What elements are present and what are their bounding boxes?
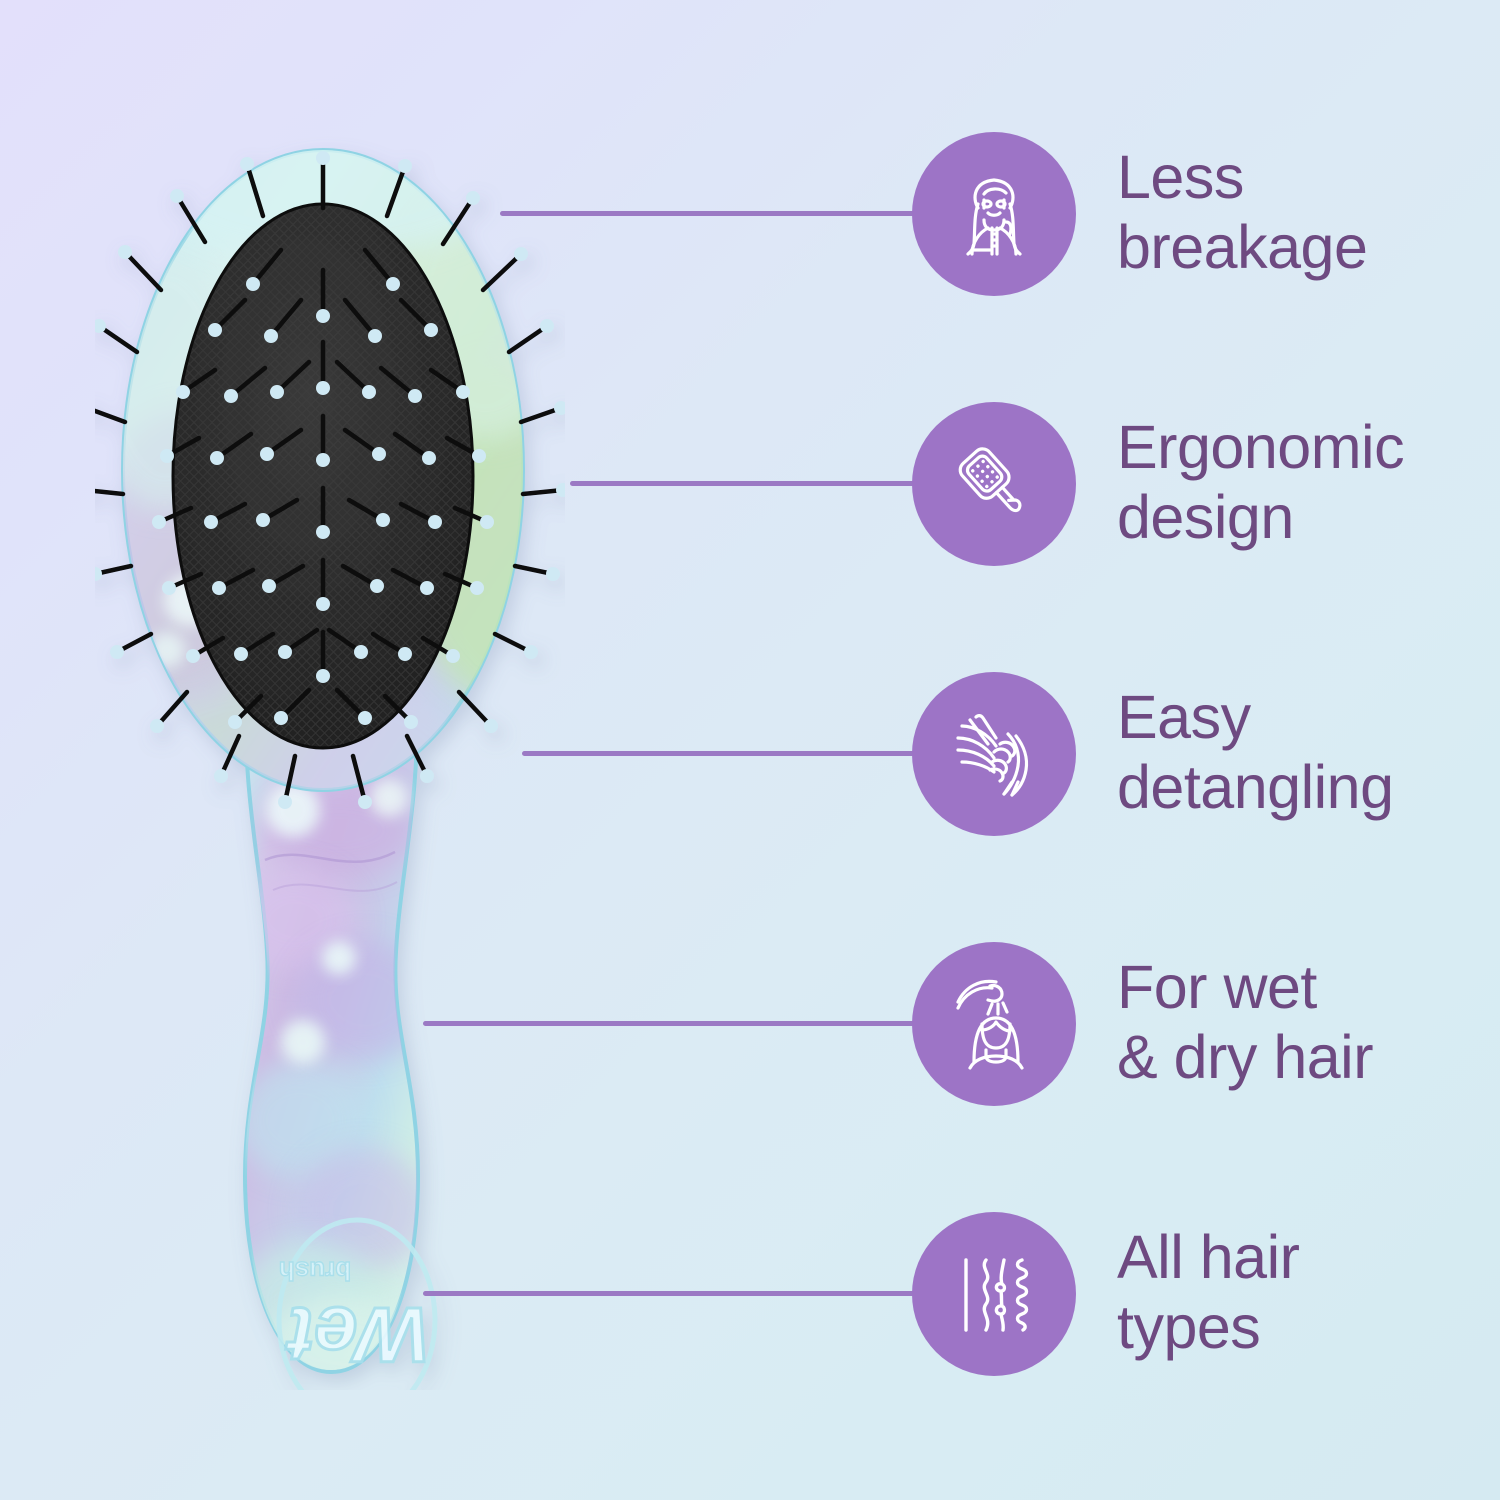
- connector-line-less-breakage: [500, 211, 930, 216]
- feature-label-less-breakage: Less breakage: [1117, 142, 1367, 282]
- connector-line-ergonomic-design: [570, 481, 930, 486]
- connector-line-all-hair-types: [423, 1291, 930, 1296]
- feature-label-easy-detangling: Easy detangling: [1117, 682, 1394, 822]
- icon-badge-ergonomic-design[interactable]: [912, 402, 1076, 566]
- feature-label-ergonomic-design: Ergonomic design: [1117, 412, 1404, 552]
- hand-combing-hair-icon: [944, 704, 1044, 804]
- feature-label-for-wet-and-dry-hair: For wet & dry hair: [1117, 952, 1373, 1092]
- icon-badge-for-wet-and-dry-hair[interactable]: [912, 942, 1076, 1106]
- icon-badge-all-hair-types[interactable]: [912, 1212, 1076, 1376]
- infographic-canvas: Wet brush: [0, 0, 1500, 1500]
- svg-text:Wet: Wet: [285, 1291, 430, 1379]
- hair-texture-types-icon: [944, 1244, 1044, 1344]
- shower-head-woman-icon: [944, 974, 1044, 1074]
- svg-text:brush: brush: [279, 1256, 351, 1286]
- connector-line-easy-detangling: [522, 751, 930, 756]
- woman-long-hair-icon: [944, 164, 1044, 264]
- icon-badge-easy-detangling[interactable]: [912, 672, 1076, 836]
- icon-badge-less-breakage[interactable]: [912, 132, 1076, 296]
- connector-line-for-wet-and-dry-hair: [423, 1021, 930, 1026]
- product-image-hair-brush: Wet brush: [95, 130, 565, 1390]
- feature-label-all-hair-types: All hair types: [1117, 1222, 1299, 1362]
- paddle-brush-icon: [944, 434, 1044, 534]
